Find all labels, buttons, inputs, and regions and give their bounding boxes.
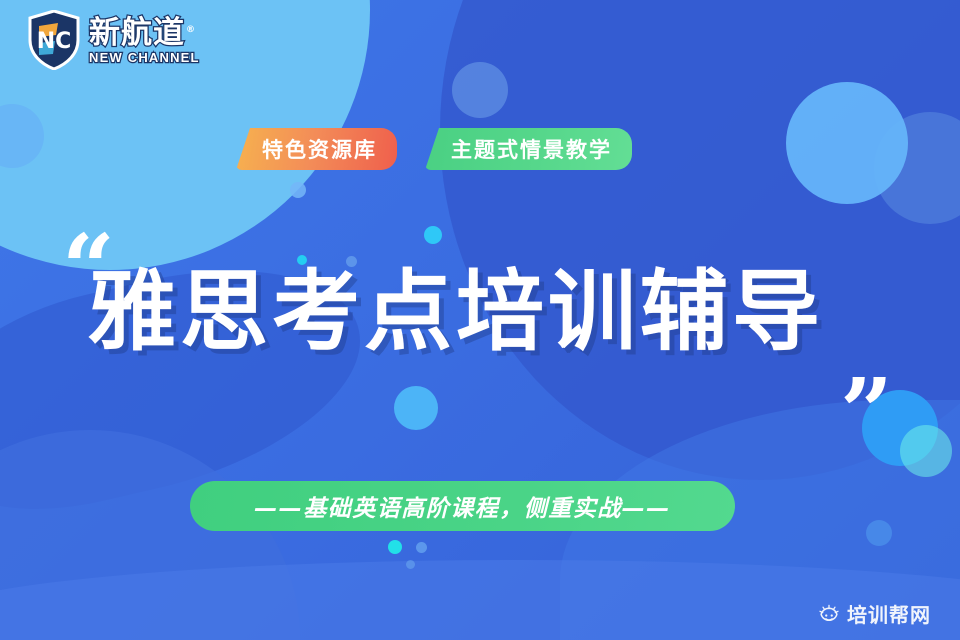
registered-mark-icon: ® <box>186 25 196 35</box>
quote-accent-circle-cyan <box>900 425 952 477</box>
brand-logo: NC 新航道® NEW CHANNEL <box>28 10 200 70</box>
subtitle-text: ——基础英语高阶课程，侧重实战—— <box>254 489 671 523</box>
svg-text:NC: NC <box>37 29 72 54</box>
nc-shield-icon: NC <box>28 10 80 70</box>
logo-brand-cn: 新航道® <box>89 17 200 50</box>
feature-badges: 特色资源库 主题式情景教学 <box>236 128 632 170</box>
ielts-training-banner: NC 新航道® NEW CHANNEL 特色资源库 主题式情景教学 “ 雅思考点… <box>0 0 960 640</box>
sun-face-icon <box>818 604 840 626</box>
decorative-dot-a <box>290 182 306 198</box>
decorative-circle-mid <box>452 62 508 118</box>
decorative-dot-g <box>416 542 427 553</box>
logo-text-block: 新航道® NEW CHANNEL <box>89 15 200 65</box>
decorative-dot-e <box>394 386 438 430</box>
decorative-dot-h <box>406 560 415 569</box>
watermark-text: 培训帮网 <box>847 605 931 625</box>
logo-brand-en: NEW CHANNEL <box>89 51 200 65</box>
subtitle-pill: ——基础英语高阶课程，侧重实战—— <box>190 481 735 531</box>
decorative-circle-light-right <box>786 82 908 204</box>
page-title: 雅思考点培训辅导 <box>88 266 824 358</box>
site-watermark: 培训帮网 <box>818 604 931 626</box>
decorative-dot-b <box>424 226 442 244</box>
decorative-dot-i <box>866 520 892 546</box>
close-quote-mark: ” <box>840 366 895 458</box>
badge-thematic-teaching[interactable]: 主题式情景教学 <box>425 128 632 170</box>
decorative-dot-f <box>388 540 402 554</box>
badge-resource-library[interactable]: 特色资源库 <box>236 128 397 170</box>
